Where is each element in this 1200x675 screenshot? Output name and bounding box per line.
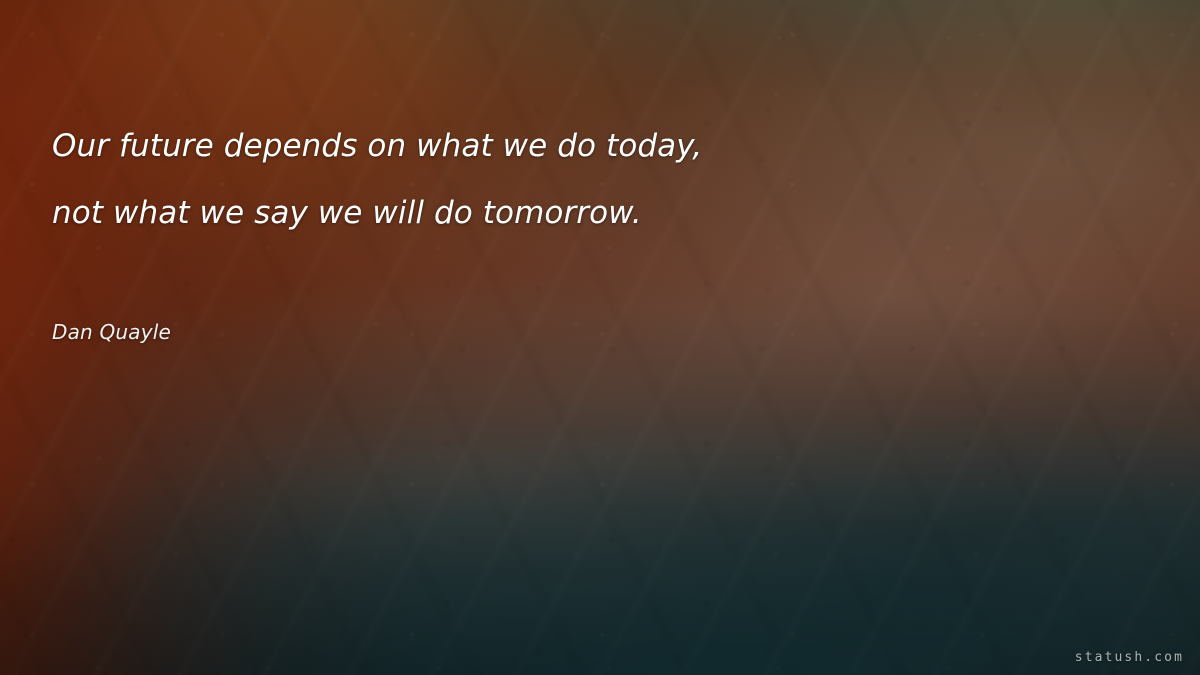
quote-card: Our future depends on what we do today, … <box>0 0 1200 675</box>
site-watermark: statush.com <box>1075 650 1184 665</box>
quote-content: Our future depends on what we do today, … <box>0 0 1200 675</box>
quote-text: Our future depends on what we do today, … <box>52 113 1052 247</box>
quote-author: Dan Quayle <box>52 320 171 344</box>
